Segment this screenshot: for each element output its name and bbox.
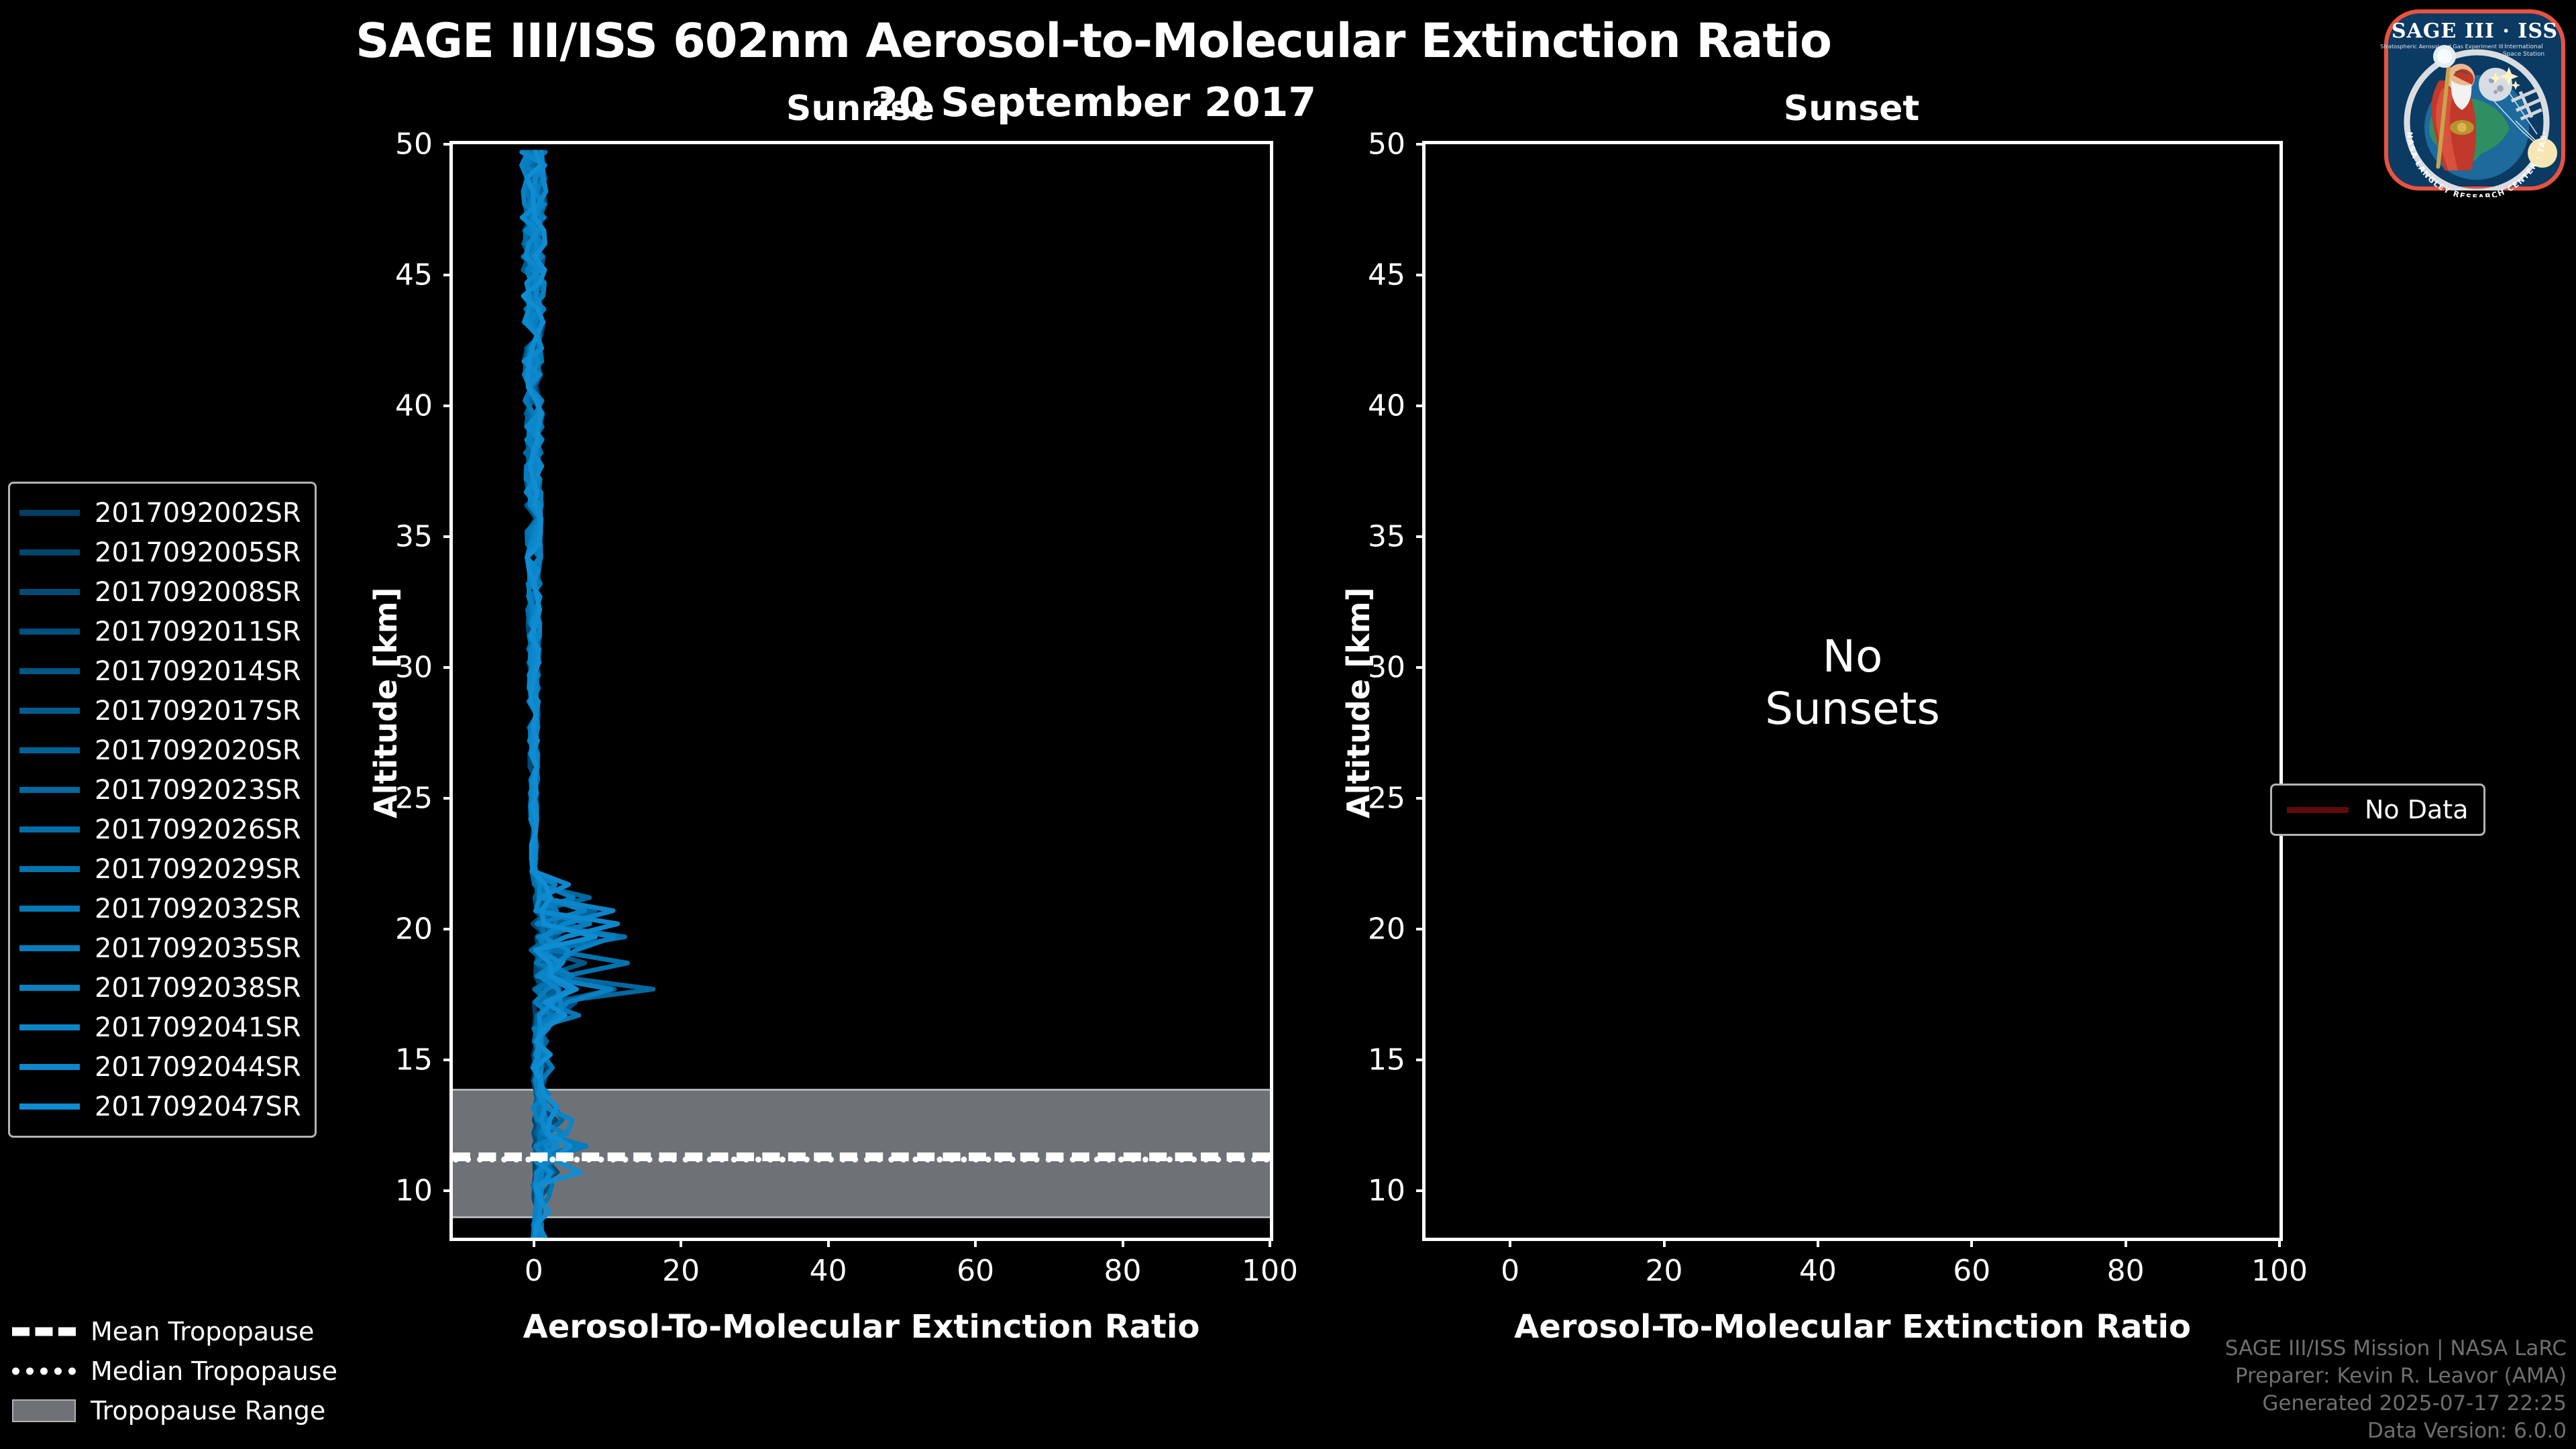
legend-item-label: 2017092032SR xyxy=(95,894,301,924)
x-tick-mark xyxy=(974,1238,977,1247)
legend-item[interactable]: 2017092041SR xyxy=(19,1008,301,1047)
tropopause-legend-patch-swatch xyxy=(12,1399,76,1422)
legend-color-swatch xyxy=(19,668,80,674)
legend-item[interactable]: 2017092017SR xyxy=(19,691,301,731)
legend-color-swatch xyxy=(19,1064,80,1070)
y-tick-mark xyxy=(443,1059,453,1061)
legend-item-label: 2017092029SR xyxy=(95,854,301,885)
legend-item[interactable]: 2017092038SR xyxy=(19,968,301,1008)
legend-item-label: 2017092023SR xyxy=(95,775,301,806)
y-tick-label: 25 xyxy=(345,781,433,815)
legend-item[interactable]: 2017092044SR xyxy=(19,1047,301,1087)
tropopause-legend-item: Mean Tropopause xyxy=(12,1311,337,1351)
legend-color-swatch xyxy=(19,1104,80,1110)
svg-text:Stratospheric Aerosol and Gas: Stratospheric Aerosol and Gas Experiment… xyxy=(2380,43,2504,50)
legend-color-swatch xyxy=(19,826,80,833)
legend-item[interactable]: 2017092035SR xyxy=(19,928,301,968)
legend-item-label: 2017092017SR xyxy=(95,696,301,727)
sunrise-x-axis-label: Aerosol-To-Molecular Extinction Ratio xyxy=(449,1308,1273,1346)
x-tick-label: 40 xyxy=(1771,1254,1865,1288)
mean-tropopause-line xyxy=(453,1152,1270,1161)
legend-item[interactable]: 2017092020SR xyxy=(19,731,301,770)
tropopause-legend-dotted-swatch xyxy=(12,1363,76,1379)
legend-item-label: 2017092014SR xyxy=(95,656,301,687)
legend-color-swatch xyxy=(19,549,80,555)
y-tick-label: 15 xyxy=(345,1042,433,1077)
svg-text:Space Station: Space Station xyxy=(2503,51,2544,58)
y-tick-label: 50 xyxy=(1318,127,1405,162)
y-tick-mark xyxy=(443,928,453,930)
legend-color-swatch xyxy=(19,510,80,516)
legend-item[interactable]: 2017092029SR xyxy=(19,849,301,889)
legend-color-swatch xyxy=(19,1024,80,1030)
y-tick-mark xyxy=(1416,143,1426,146)
y-tick-label: 40 xyxy=(1318,388,1405,423)
y-tick-mark xyxy=(1416,1189,1426,1192)
svg-text:SAGE III · ISS: SAGE III · ISS xyxy=(2392,19,2558,43)
y-tick-mark xyxy=(443,143,453,146)
y-tick-label: 25 xyxy=(1318,781,1405,815)
y-tick-label: 35 xyxy=(1318,519,1405,553)
legend-item[interactable]: 2017092011SR xyxy=(19,612,301,651)
y-tick-mark xyxy=(443,666,453,669)
legend-item-label: 2017092035SR xyxy=(95,933,301,964)
legend-item-label: 2017092026SR xyxy=(95,814,301,845)
page-title: SAGE III/ISS 602nm Aerosol-to-Molecular … xyxy=(0,13,2187,68)
x-tick-mark xyxy=(1122,1238,1124,1247)
x-tick-label: 80 xyxy=(2079,1254,2173,1288)
y-tick-label: 45 xyxy=(1318,258,1405,292)
x-tick-mark xyxy=(2125,1238,2127,1247)
legend-item-label: 2017092008SR xyxy=(95,577,301,608)
aerosol-profile-curves xyxy=(453,144,1270,1238)
y-tick-mark xyxy=(443,797,453,800)
y-tick-label: 30 xyxy=(1318,650,1405,684)
sunset-panel-heading: Sunset xyxy=(1422,89,2281,129)
y-tick-mark xyxy=(1416,928,1426,930)
x-tick-mark xyxy=(2278,1238,2281,1247)
legend-color-swatch xyxy=(19,945,80,951)
legend-color-swatch xyxy=(19,747,80,753)
y-tick-label: 35 xyxy=(345,519,433,553)
y-tick-mark xyxy=(1416,1059,1426,1061)
sunrise-plot-panel xyxy=(449,141,1273,1241)
tropopause-legend-item: Median Tropopause xyxy=(12,1351,337,1391)
tropopause-legend-label: Mean Tropopause xyxy=(91,1317,314,1346)
legend-item[interactable]: 2017092002SR xyxy=(19,493,301,533)
legend-item[interactable]: 2017092023SR xyxy=(19,770,301,810)
no-data-legend: No Data xyxy=(2270,784,2485,836)
legend-item[interactable]: 2017092047SR xyxy=(19,1087,301,1126)
tropopause-legend-label: Median Tropopause xyxy=(91,1356,337,1386)
legend-color-swatch xyxy=(19,985,80,991)
y-tick-label: 45 xyxy=(345,258,433,292)
y-tick-mark xyxy=(443,1189,453,1192)
x-tick-mark xyxy=(1817,1238,1819,1247)
x-tick-label: 20 xyxy=(634,1254,728,1288)
legend-item[interactable]: 2017092008SR xyxy=(19,572,301,612)
x-tick-mark xyxy=(1269,1238,1271,1247)
legend-item[interactable]: 2017092032SR xyxy=(19,889,301,928)
x-tick-label: 60 xyxy=(928,1254,1022,1288)
y-tick-label: 40 xyxy=(345,388,433,423)
y-tick-mark xyxy=(1416,405,1426,407)
legend-item-label: 2017092011SR xyxy=(95,616,301,647)
legend-item-label: 2017092044SR xyxy=(95,1052,301,1083)
y-tick-label: 20 xyxy=(1318,912,1405,946)
x-tick-label: 100 xyxy=(1223,1254,1317,1288)
legend-color-swatch xyxy=(19,629,80,635)
y-tick-label: 15 xyxy=(1318,1042,1405,1077)
legend-item[interactable]: 2017092026SR xyxy=(19,810,301,849)
y-tick-label: 50 xyxy=(345,127,433,162)
x-tick-mark xyxy=(1509,1238,1511,1247)
legend-item[interactable]: 2017092014SR xyxy=(19,651,301,691)
x-tick-label: 40 xyxy=(782,1254,875,1288)
tropopause-legend-dashed-swatch xyxy=(12,1324,76,1340)
x-tick-mark xyxy=(1970,1238,1973,1247)
sunrise-panel-heading: Sunrise xyxy=(449,89,1271,129)
y-tick-label: 30 xyxy=(345,650,433,684)
y-tick-label: 10 xyxy=(1318,1173,1405,1207)
profile-legend: 2017092002SR2017092005SR2017092008SR2017… xyxy=(8,482,317,1138)
sage-iii-iss-mission-patch-icon: SAGE III · ISS Stratospheric Aerosol and… xyxy=(2377,3,2572,197)
tropopause-legend: Mean TropopauseMedian TropopauseTropopau… xyxy=(12,1311,337,1430)
legend-item-label: 2017092047SR xyxy=(95,1091,301,1122)
tropopause-legend-label: Tropopause Range xyxy=(91,1396,325,1426)
svg-text:International: International xyxy=(2504,44,2542,50)
x-tick-label: 80 xyxy=(1076,1254,1170,1288)
x-tick-mark xyxy=(533,1238,535,1247)
y-tick-mark xyxy=(1416,666,1426,669)
no-data-swatch xyxy=(2287,807,2349,813)
y-tick-mark xyxy=(443,535,453,538)
legend-item[interactable]: 2017092005SR xyxy=(19,533,301,572)
legend-color-swatch xyxy=(19,708,80,714)
x-tick-mark xyxy=(827,1238,830,1247)
x-tick-mark xyxy=(680,1238,682,1247)
y-tick-mark xyxy=(1416,797,1426,800)
no-data-label: No Data xyxy=(2365,795,2469,824)
credits-line-mission: SAGE III/ISS Mission | NASA LaRC xyxy=(2225,1335,2567,1362)
no-sunsets-message: No Sunsets xyxy=(1422,631,2283,735)
sunrise-plot-area xyxy=(453,144,1270,1238)
legend-color-swatch xyxy=(19,787,80,793)
x-tick-mark xyxy=(1663,1238,1666,1247)
x-tick-label: 0 xyxy=(1463,1254,1557,1288)
y-tick-label: 20 xyxy=(345,912,433,946)
x-tick-label: 0 xyxy=(487,1254,581,1288)
legend-color-swatch xyxy=(19,906,80,912)
credits-line-preparer: Preparer: Kevin R. Leavor (AMA) xyxy=(2225,1362,2567,1390)
credits-line-generated: Generated 2025-07-17 22:25 xyxy=(2225,1390,2567,1417)
legend-item-label: 2017092038SR xyxy=(95,973,301,1004)
legend-color-swatch xyxy=(19,866,80,872)
y-tick-mark xyxy=(443,274,453,276)
sunset-x-axis-label: Aerosol-To-Molecular Extinction Ratio xyxy=(1422,1308,2283,1346)
legend-item-label: 2017092020SR xyxy=(95,735,301,766)
y-tick-label: 10 xyxy=(345,1173,433,1207)
x-tick-label: 20 xyxy=(1617,1254,1711,1288)
y-tick-mark xyxy=(443,405,453,407)
credits-block: SAGE III/ISS Mission | NASA LaRC Prepare… xyxy=(2225,1335,2567,1445)
x-tick-label: 100 xyxy=(2233,1254,2326,1288)
x-tick-label: 60 xyxy=(1925,1254,2019,1288)
legend-item-label: 2017092041SR xyxy=(95,1012,301,1043)
legend-item-label: 2017092005SR xyxy=(95,537,301,568)
legend-item-label: 2017092002SR xyxy=(95,498,301,529)
credits-line-version: Data Version: 6.0.0 xyxy=(2225,1417,2567,1445)
y-tick-mark xyxy=(1416,535,1426,538)
tropopause-legend-item: Tropopause Range xyxy=(12,1391,337,1430)
legend-color-swatch xyxy=(19,589,80,595)
y-tick-mark xyxy=(1416,274,1426,276)
